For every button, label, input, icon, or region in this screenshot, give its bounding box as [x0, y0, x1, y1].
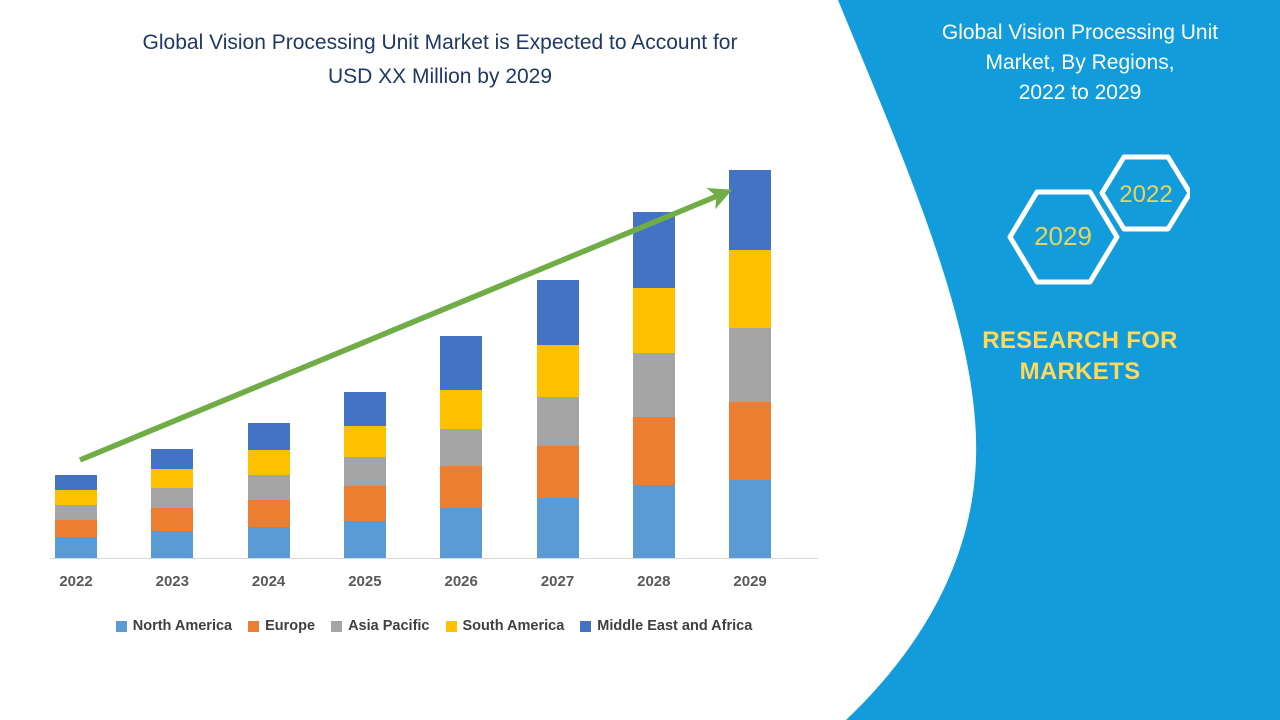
x-tick-2028: 2028 — [614, 573, 694, 590]
x-tick-2025: 2025 — [325, 573, 405, 590]
bar-segment — [248, 450, 290, 475]
bar-segment — [248, 527, 290, 558]
bar-column-2022[interactable] — [55, 0, 97, 558]
bar-column-2023[interactable] — [151, 0, 193, 558]
bar-segment — [151, 488, 193, 508]
legend-item[interactable]: Middle East and Africa — [580, 618, 752, 634]
bar-segment — [344, 392, 386, 426]
bar-segment — [248, 500, 290, 527]
legend-swatch-icon — [446, 621, 457, 632]
bar-stack — [344, 392, 386, 558]
x-tick-2024: 2024 — [229, 573, 309, 590]
bar-segment — [729, 250, 771, 328]
legend-label: Asia Pacific — [348, 618, 429, 634]
legend-swatch-icon — [248, 621, 259, 632]
bar-column-2025[interactable] — [344, 0, 386, 558]
bar-segment — [729, 328, 771, 402]
bar-segment — [55, 537, 97, 558]
bar-segment — [248, 423, 290, 450]
legend-swatch-icon — [116, 621, 127, 632]
bar-stack — [440, 336, 482, 558]
bar-segment — [440, 429, 482, 466]
bar-segment — [440, 390, 482, 430]
bar-segment — [440, 466, 482, 508]
bar-segment — [537, 498, 579, 558]
bar-segment — [633, 212, 675, 288]
legend-label: South America — [463, 618, 565, 634]
bar-segment — [55, 475, 97, 491]
bar-segment — [248, 475, 290, 500]
chart-legend: North AmericaEuropeAsia PacificSouth Ame… — [48, 618, 820, 634]
bar-segment — [633, 417, 675, 486]
bar-segment — [344, 521, 386, 558]
bar-segment — [55, 505, 97, 520]
bar-segment — [537, 345, 579, 397]
bar-segment — [55, 490, 97, 505]
bar-segment — [151, 449, 193, 469]
legend-swatch-icon — [580, 621, 591, 632]
bar-stack — [248, 423, 290, 558]
bar-segment — [151, 469, 193, 489]
bar-column-2027[interactable] — [537, 0, 579, 558]
bar-segment — [537, 397, 579, 446]
bar-segment — [440, 336, 482, 389]
x-tick-2022: 2022 — [36, 573, 116, 590]
bar-column-2029[interactable] — [729, 0, 771, 558]
legend-label: North America — [133, 618, 232, 634]
x-tick-2029: 2029 — [710, 573, 790, 590]
bar-segment — [440, 508, 482, 558]
bar-stack — [151, 449, 193, 558]
bar-stack — [55, 475, 97, 558]
legend-label: Middle East and Africa — [597, 618, 752, 634]
bar-segment — [151, 508, 193, 531]
bar-segment — [55, 520, 97, 538]
x-tick-2027: 2027 — [518, 573, 598, 590]
legend-label: Europe — [265, 618, 315, 634]
bar-column-2024[interactable] — [248, 0, 290, 558]
bar-stack — [633, 212, 675, 558]
bar-segment — [344, 426, 386, 457]
legend-item[interactable]: Europe — [248, 618, 315, 634]
bar-segment — [151, 531, 193, 558]
legend-swatch-icon — [331, 621, 342, 632]
bar-segment — [537, 446, 579, 498]
bar-segment — [633, 353, 675, 416]
bar-segment — [344, 457, 386, 486]
bar-stack — [537, 280, 579, 558]
bar-segment — [729, 170, 771, 250]
bar-segment — [633, 485, 675, 558]
bar-segment — [729, 480, 771, 558]
bar-segment — [344, 486, 386, 520]
bar-segment — [537, 280, 579, 344]
x-tick-2023: 2023 — [132, 573, 212, 590]
bar-series-layer — [0, 0, 840, 558]
x-tick-2026: 2026 — [421, 573, 501, 590]
bar-segment — [633, 288, 675, 354]
infographic-slide: Global Vision Processing Unit Market is … — [0, 0, 1280, 720]
legend-item[interactable]: North America — [116, 618, 232, 634]
bar-column-2028[interactable] — [633, 0, 675, 558]
x-axis-line — [50, 558, 818, 559]
chart-region: Global Vision Processing Unit Market is … — [0, 0, 840, 600]
bar-column-2026[interactable] — [440, 0, 482, 558]
bar-segment — [729, 402, 771, 480]
legend-item[interactable]: Asia Pacific — [331, 618, 429, 634]
legend-item[interactable]: South America — [446, 618, 565, 634]
bar-stack — [729, 170, 771, 558]
